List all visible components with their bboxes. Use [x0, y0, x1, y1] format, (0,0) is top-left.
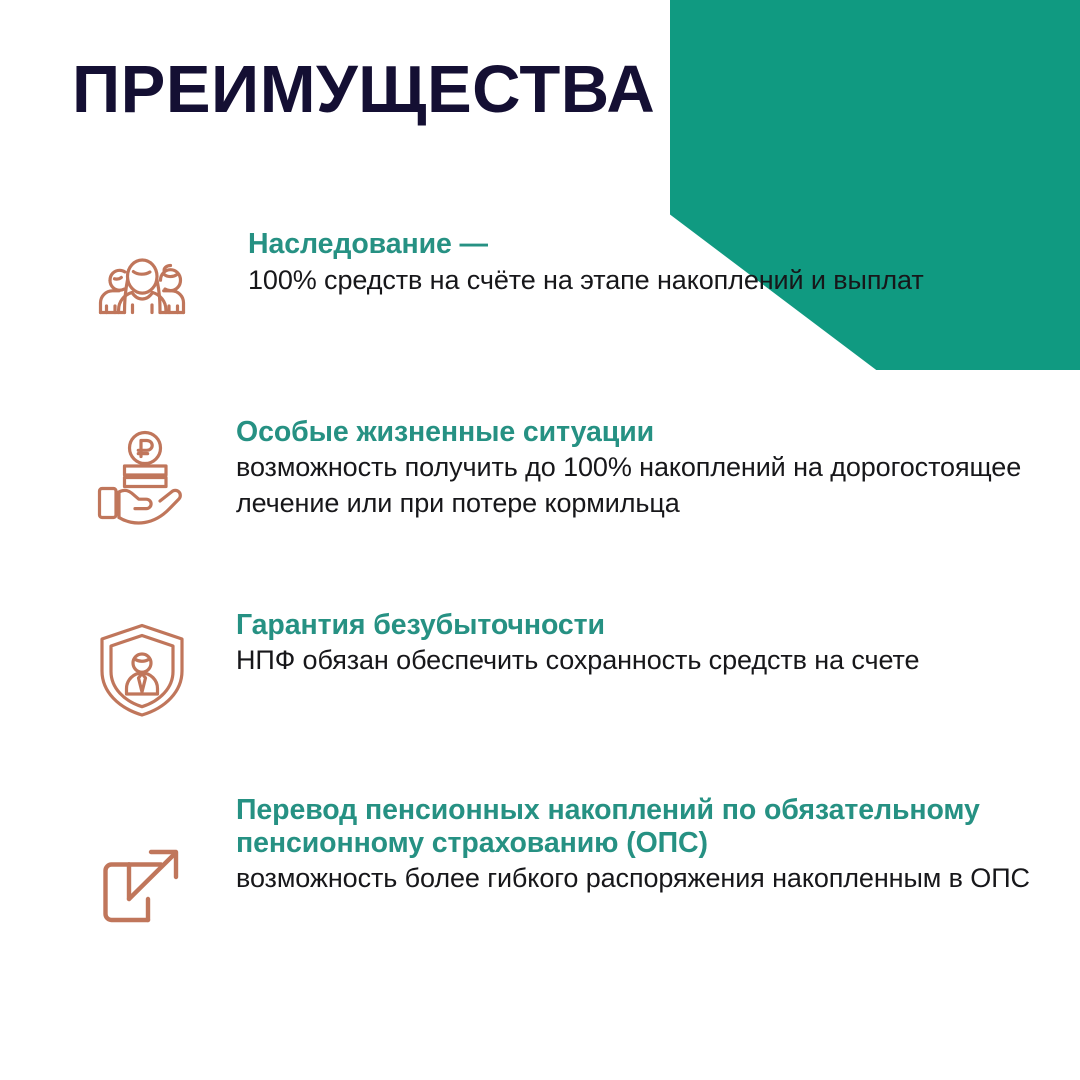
list-item: Перевод пенсионных накоплений по обязате…: [0, 794, 1080, 926]
shield-with-person-icon: [72, 609, 212, 719]
list-item-body: возможность более гибкого распоряжения н…: [236, 860, 1080, 896]
family-group-icon: [72, 228, 212, 330]
list-item-body: возможность получить до 100% накоплений …: [236, 449, 1080, 521]
list-item-body: 100% средств на счёте на этапе накоплени…: [248, 262, 1080, 298]
list-item-body: НПФ обязан обеспечить сохранность средст…: [236, 642, 1080, 678]
list-item-heading: Особые жизненные ситуации: [236, 416, 1080, 449]
slide-root: ПРЕИМУЩЕСТВА: [0, 0, 1080, 1080]
list-item-text: Перевод пенсионных накоплений по обязате…: [236, 794, 1080, 896]
page-title: ПРЕИМУЩЕСТВА: [72, 56, 655, 123]
list-item: Наследование — 100% средств на счёте на …: [0, 228, 1080, 330]
list-item-heading: Перевод пенсионных накоплений по обязате…: [236, 794, 1080, 860]
list-item: Гарантия безубыточности НПФ обязан обесп…: [0, 609, 1080, 719]
list-item-text: Наследование — 100% средств на счёте на …: [248, 228, 1080, 298]
benefits-list: Наследование — 100% средств на счёте на …: [0, 228, 1080, 926]
hand-with-ruble-coins-icon: [72, 416, 212, 532]
export-arrow-icon: [72, 794, 212, 926]
list-item-text: Особые жизненные ситуации возможность по…: [236, 416, 1080, 521]
list-item-heading: Наследование —: [248, 228, 1080, 261]
list-item-heading: Гарантия безубыточности: [236, 609, 1080, 642]
list-item-text: Гарантия безубыточности НПФ обязан обесп…: [236, 609, 1080, 678]
list-item: Особые жизненные ситуации возможность по…: [0, 416, 1080, 532]
